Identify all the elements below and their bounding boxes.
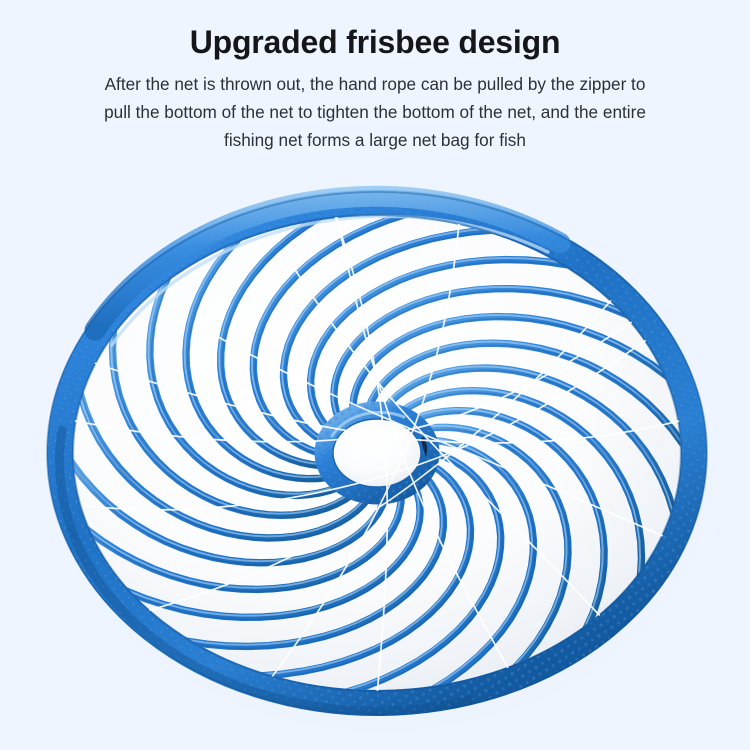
description-line-2: pull the bottom of the net to tighten th… [30,99,720,127]
page-title: Upgraded frisbee design [0,0,750,62]
page-description: After the net is thrown out, the hand ro… [30,71,720,155]
product-feature-image: Upgraded frisbee design After the net is… [0,0,750,750]
description-line-3: fishing net forms a large net bag for fi… [30,127,720,155]
description-line-1: After the net is thrown out, the hand ro… [30,71,720,99]
text-block: Upgraded frisbee design After the net is… [0,0,750,155]
